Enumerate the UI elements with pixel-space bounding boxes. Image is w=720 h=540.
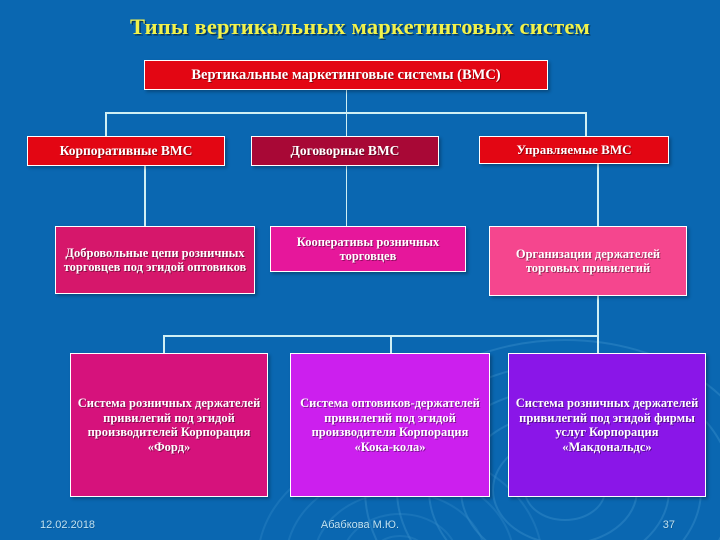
node-ford-retailer-franchise-system[interactable]: Система розничных держателей привилегий … bbox=[70, 353, 268, 497]
node-voluntary-retailer-chains[interactable]: Добровольные цепи розничных торговцев по… bbox=[55, 226, 255, 294]
node-label: Система розничных держателей привилегий … bbox=[71, 396, 267, 454]
node-retailer-cooperatives[interactable]: Кооперативы розничных торговцев bbox=[270, 226, 466, 272]
node-mcdonalds-service-franchise-system[interactable]: Система розничных держателей привилегий … bbox=[508, 353, 706, 497]
connector-to-ford bbox=[163, 335, 165, 353]
node-cocacola-wholesaler-franchise-system[interactable]: Система оптовиков-держателей привилегий … bbox=[290, 353, 490, 497]
connector-level4-bus bbox=[163, 335, 598, 337]
node-label: Корпоративные ВМС bbox=[28, 143, 224, 159]
page-title: Типы вертикальных маркетинговых систем bbox=[0, 14, 720, 40]
connector-to-managed bbox=[585, 112, 587, 136]
connector-contract-to-coops bbox=[346, 166, 348, 226]
footer-author: Абабкова М.Ю. bbox=[0, 519, 720, 531]
node-label: Управляемые ВМС bbox=[480, 142, 668, 157]
node-label: Вертикальные маркетинговые системы (ВМС) bbox=[145, 67, 547, 84]
slide-canvas: Типы вертикальных маркетинговых систем В… bbox=[0, 0, 720, 540]
footer-page-number: 37 bbox=[663, 519, 675, 531]
connector-to-cola bbox=[390, 335, 392, 353]
node-corporate-vms[interactable]: Корпоративные ВМС bbox=[27, 136, 225, 166]
node-label: Система оптовиков-держателей привилегий … bbox=[291, 396, 489, 454]
node-label: Кооперативы розничных торговцев bbox=[271, 235, 465, 264]
node-managed-vms[interactable]: Управляемые ВМС bbox=[479, 136, 669, 164]
node-vertical-marketing-systems[interactable]: Вертикальные маркетинговые системы (ВМС) bbox=[144, 60, 548, 90]
node-label: Добровольные цепи розничных торговцев по… bbox=[56, 246, 254, 275]
node-contractual-vms[interactable]: Договорные ВМС bbox=[251, 136, 439, 166]
connector-managed-to-orgs bbox=[597, 164, 599, 226]
node-label: Договорные ВМС bbox=[252, 143, 438, 159]
node-label: Система розничных держателей привилегий … bbox=[509, 396, 705, 454]
connector-corp-to-chains bbox=[144, 166, 146, 226]
node-label: Организации держателей торговых привилег… bbox=[490, 247, 686, 276]
connector-orgs-down bbox=[597, 296, 599, 336]
node-franchise-organizations[interactable]: Организации держателей торговых привилег… bbox=[489, 226, 687, 296]
connector-to-corp bbox=[105, 112, 107, 136]
connector-to-mcd bbox=[597, 335, 599, 353]
connector-to-contract bbox=[346, 112, 348, 136]
